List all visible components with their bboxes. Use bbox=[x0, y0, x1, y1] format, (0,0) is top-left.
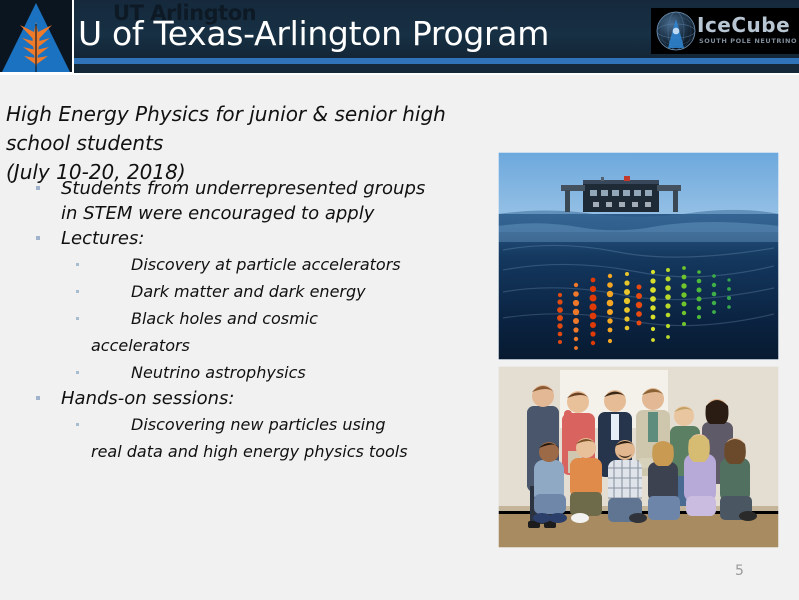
list-item-label: Hands-on sessions: bbox=[61, 388, 235, 409]
list-item-label: Black holes and cosmic bbox=[131, 309, 318, 328]
uta-logo bbox=[0, 0, 74, 74]
list-item-continuation: in STEM were encouraged to apply bbox=[61, 201, 491, 226]
list-item: Dark matter and dark energy bbox=[6, 278, 491, 305]
bullet-marker-icon bbox=[76, 371, 79, 374]
list-item-label: Discovery at particle accelerators bbox=[131, 255, 401, 274]
intro-line-1: High Energy Physics for junior & senior … bbox=[6, 100, 496, 158]
intro-text: High Energy Physics for junior & senior … bbox=[6, 100, 496, 187]
bullet-marker-icon bbox=[36, 236, 40, 240]
bullet-list: Students from underrepresented groups in… bbox=[6, 176, 491, 465]
slide-canvas: U of Texas-Arlington Program UT Arlingto… bbox=[0, 0, 799, 600]
list-item-label: Neutrino astrophysics bbox=[131, 363, 306, 382]
globe-icon bbox=[655, 10, 697, 52]
group-photo bbox=[498, 366, 779, 548]
bullet-marker-icon bbox=[36, 396, 40, 400]
list-item: Hands-on sessions: bbox=[6, 386, 491, 411]
icecube-lab-image bbox=[498, 152, 779, 360]
icecube-logo: IceCube SOUTH POLE NEUTRINO OBSERVATORY bbox=[651, 8, 799, 54]
list-item-label: Discovering new particles using bbox=[131, 415, 386, 434]
group-photo-image bbox=[498, 366, 779, 548]
icecube-lab-photo bbox=[498, 152, 779, 360]
list-item: Discovery at particle accelerators bbox=[6, 251, 491, 278]
header-hairline bbox=[0, 73, 799, 75]
list-item: Lectures: bbox=[6, 226, 491, 251]
icecube-subtitle: SOUTH POLE NEUTRINO OBSERVATORY bbox=[699, 37, 799, 45]
bullet-marker-icon bbox=[36, 186, 40, 190]
uta-wordmark: UT Arlington bbox=[113, 1, 256, 25]
bullet-marker-icon bbox=[76, 423, 79, 426]
list-item-label: Students from underrepresented groups bbox=[61, 178, 425, 199]
bullet-marker-icon bbox=[76, 263, 79, 266]
list-item: Black holes and cosmic accelerators bbox=[6, 305, 491, 359]
list-item-label: Lectures: bbox=[61, 228, 144, 249]
list-item-label: Dark matter and dark energy bbox=[131, 282, 366, 301]
list-item: Neutrino astrophysics bbox=[6, 359, 491, 386]
header-lower-band bbox=[0, 64, 799, 73]
page-number: 5 bbox=[735, 563, 744, 579]
list-item: Discovering new particles using real dat… bbox=[6, 411, 491, 465]
list-item-continuation: accelerators bbox=[91, 332, 491, 359]
bullet-marker-icon bbox=[76, 317, 79, 320]
list-item-continuation: real data and high energy physics tools bbox=[91, 438, 491, 465]
icecube-wordmark: IceCube bbox=[697, 13, 790, 37]
list-item: Students from underrepresented groups in… bbox=[6, 176, 491, 226]
uta-maverick-star-logo bbox=[0, 0, 72, 72]
bullet-marker-icon bbox=[76, 290, 79, 293]
